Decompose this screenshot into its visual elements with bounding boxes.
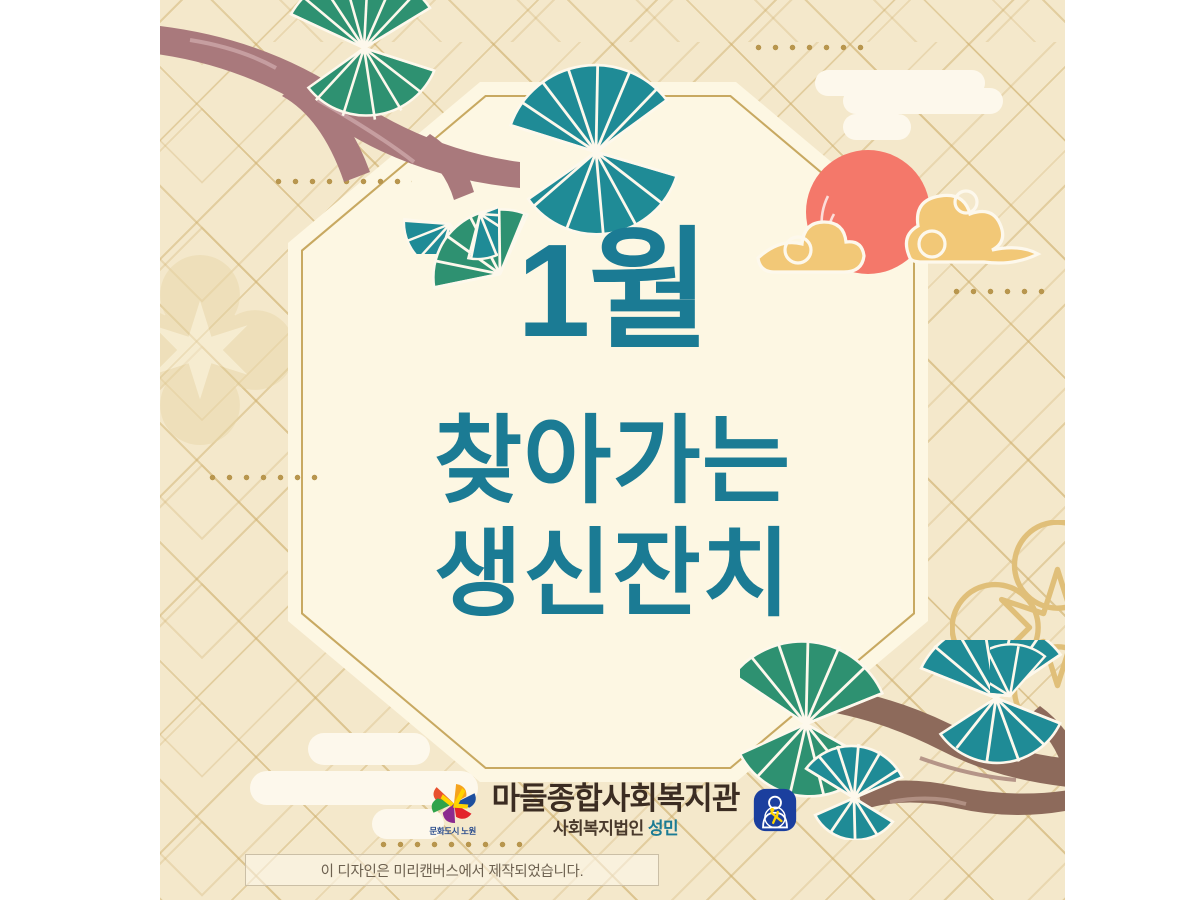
organization-sub-prefix: 사회복지법인 <box>553 819 644 838</box>
nowon-logo: 문화도시 노원 <box>427 784 479 837</box>
footer-logos: 문화도시 노원 마들종합사회복지관 사회복지법인 성민 <box>160 783 1065 837</box>
organization-name-block: 마들종합사회복지관 사회복지법인 성민 <box>492 783 740 837</box>
nowon-pinwheel-icon <box>427 784 479 824</box>
organization-sub-accent: 성민 <box>648 819 678 838</box>
cloud-top-right-icon <box>815 70 1015 140</box>
month-label: 1월 <box>160 225 1065 357</box>
poster-headline: 찾아가는 생신잔치 <box>160 405 1065 632</box>
headline-line-2: 생신잔치 <box>160 518 1065 631</box>
dotted-line-top-right <box>750 44 868 51</box>
canvas-watermark: 이 디자인은 미리캔버스에서 제작되었습니다. <box>245 854 659 886</box>
poster-stage: 1월 찾아가는 생신잔치 문화도시 노원 <box>0 0 1200 900</box>
dotted-line-bottom-left <box>375 841 525 848</box>
headline-line-1: 찾아가는 <box>160 405 1065 518</box>
pine-fan-icon <box>501 49 674 168</box>
nowon-logo-caption: 문화도시 노원 <box>429 825 475 837</box>
organization-subtitle: 사회복지법인 성민 <box>553 820 678 837</box>
watermark-text: 이 디자인은 미리캔버스에서 제작되었습니다. <box>321 860 584 881</box>
seongmin-badge-icon <box>752 787 798 833</box>
pine-fan-far-right <box>990 620 1065 730</box>
design-canvas: 1월 찾아가는 생신잔치 문화도시 노원 <box>160 0 1065 900</box>
organization-name: 마들종합사회복지관 <box>492 783 740 814</box>
pine-fan-icon <box>990 629 1054 715</box>
